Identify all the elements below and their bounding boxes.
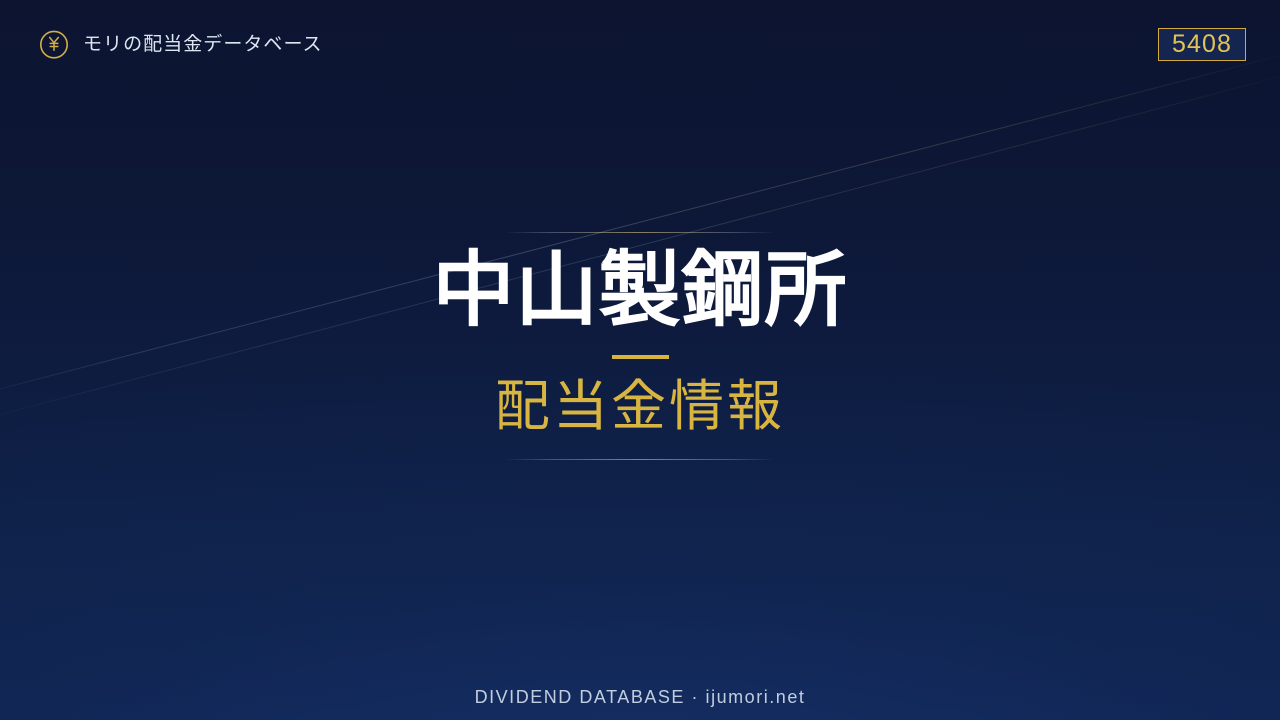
footer-attribution: DIVIDEND DATABASE · ijumori.net	[475, 688, 806, 706]
divider-bottom	[505, 459, 775, 460]
brand[interactable]: モリの配当金データベース	[38, 28, 323, 60]
stock-code-badge: 5408	[1158, 28, 1246, 61]
title-slide: モリの配当金データベース 5408 中山製鋼所 配当金情報 DIVIDEND D…	[0, 0, 1280, 720]
brand-name: モリの配当金データベース	[83, 35, 323, 54]
page-subtitle: 配当金情報	[495, 375, 785, 438]
page-header: モリの配当金データベース 5408	[0, 0, 1280, 88]
yen-circle-icon	[38, 28, 70, 60]
page-footer: DIVIDEND DATABASE · ijumori.net	[0, 688, 1280, 708]
divider-top	[505, 232, 775, 233]
hero-section: 中山製鋼所 配当金情報	[0, 232, 1280, 460]
gold-accent-divider	[612, 355, 669, 359]
company-name-title: 中山製鋼所	[433, 246, 848, 336]
